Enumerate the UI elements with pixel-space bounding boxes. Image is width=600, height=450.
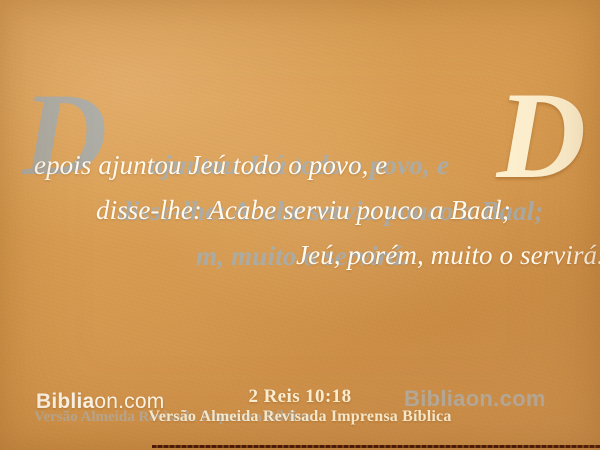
verse-line-1: epois ajuntou Jeú todo o povo, e bbox=[34, 150, 387, 181]
verse-line-3: Jeú, porém, muito o servirá. bbox=[296, 240, 600, 271]
verse-line-2: disse-lhe: Acabe serviu pouco a Baal; bbox=[96, 195, 511, 226]
verse-card: D ajuntou Jeú todo o povo, e disse-lhe: … bbox=[0, 0, 600, 450]
verse-reference: 2 Reis 10:18 bbox=[0, 386, 600, 408]
verse-text-layer: D epois ajuntou Jeú todo o povo, e disse… bbox=[0, 0, 600, 450]
bottom-dashed-rule bbox=[152, 445, 600, 448]
verse-drop-cap: D bbox=[496, 74, 586, 198]
bible-version-label: Versão Almeida Revisada Imprensa Bíblica bbox=[0, 408, 600, 426]
